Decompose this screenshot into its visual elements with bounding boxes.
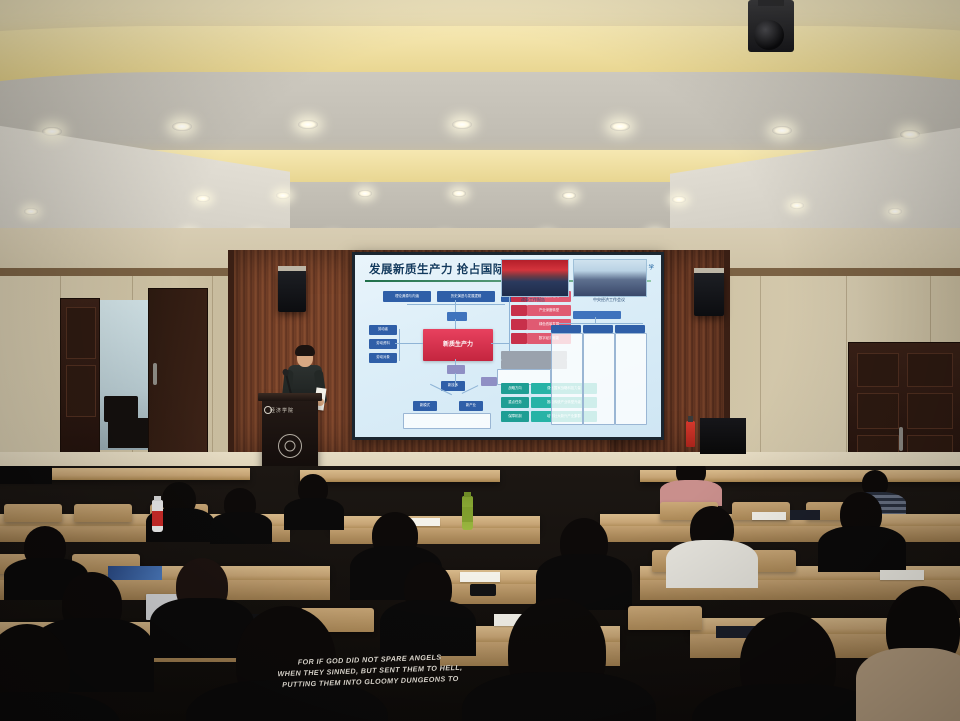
wall-speaker-right bbox=[694, 272, 724, 316]
slide-core-node: 新质生产力 bbox=[423, 329, 493, 361]
slide-node: 新技术 bbox=[441, 381, 465, 391]
stage-cabinet bbox=[700, 418, 746, 454]
podium-top bbox=[258, 393, 322, 401]
connector bbox=[559, 323, 643, 324]
slide-photo-caption: 改革工作报告 bbox=[503, 297, 563, 303]
connector bbox=[399, 329, 400, 361]
downlight bbox=[790, 202, 804, 209]
slide-node: 新模式 bbox=[413, 401, 437, 411]
green-thermos bbox=[462, 496, 473, 530]
downlight bbox=[276, 192, 290, 199]
slide-node-tag bbox=[511, 333, 527, 344]
podium-label: 经济学院 bbox=[270, 407, 294, 414]
downlight bbox=[42, 127, 62, 136]
panel-seam bbox=[760, 276, 761, 476]
red-label-water-bottle bbox=[152, 500, 163, 532]
slide-node: 战略方向 bbox=[501, 383, 529, 394]
speaker-cap bbox=[278, 266, 306, 271]
slide-node-tag bbox=[511, 305, 527, 316]
audience-area bbox=[0, 466, 960, 721]
slide-node-tag bbox=[511, 319, 527, 330]
downlight bbox=[610, 122, 630, 131]
slide-node-small bbox=[573, 311, 621, 319]
slide-node-small bbox=[551, 325, 581, 333]
connector bbox=[407, 304, 505, 305]
phone-on-desk bbox=[470, 584, 496, 596]
papers-on-desk bbox=[880, 570, 924, 580]
door-panel bbox=[66, 307, 96, 359]
slide-node-small bbox=[447, 312, 467, 321]
bottle-label bbox=[152, 511, 163, 526]
slide-node-small bbox=[447, 365, 465, 374]
audience-shoulders bbox=[210, 512, 272, 544]
audience-shoulders bbox=[0, 692, 120, 721]
door-panel bbox=[857, 393, 899, 429]
downlight bbox=[562, 192, 576, 199]
door-panel bbox=[907, 393, 953, 429]
corridor-desk bbox=[108, 418, 148, 448]
bottle-cap bbox=[154, 496, 161, 501]
slide-note bbox=[403, 413, 491, 429]
connector bbox=[491, 343, 509, 344]
projection-screen: 发展新质生产力 抢占国际竞争制高点 武汉纺织大学 理论渊源与内涵 历史演进与发展… bbox=[352, 252, 664, 440]
door-panel bbox=[907, 353, 953, 387]
papers-on-desk bbox=[752, 512, 786, 520]
downlight bbox=[172, 122, 192, 131]
lecture-hall-photo: 发展新质生产力 抢占国际竞争制高点 武汉纺织大学 理论渊源与内涵 历史演进与发展… bbox=[0, 0, 960, 721]
audience-shoulders bbox=[462, 672, 656, 721]
slide-node-small bbox=[481, 377, 497, 386]
tshirt-printed-text: FOR IF GOD DID NOT SPARE ANGELS WHEN THE… bbox=[269, 651, 470, 691]
connector bbox=[509, 295, 510, 357]
desk-face bbox=[330, 528, 540, 544]
camera-lens bbox=[754, 20, 784, 50]
chair-back bbox=[74, 504, 132, 522]
connector bbox=[395, 343, 423, 344]
downlight bbox=[772, 126, 792, 135]
slide-node: 劳动对象 bbox=[369, 353, 397, 363]
ceiling bbox=[0, 0, 960, 250]
downlight bbox=[900, 130, 920, 139]
audience-shoulders bbox=[0, 466, 52, 484]
panel-seam bbox=[846, 276, 847, 476]
slide-node-small bbox=[615, 325, 645, 333]
slide-node-small bbox=[583, 325, 613, 333]
presenter-hair bbox=[295, 345, 315, 356]
camera-mount bbox=[758, 0, 784, 6]
downlight bbox=[298, 120, 318, 129]
audience-shoulders bbox=[380, 600, 476, 656]
podium: 经济学院 bbox=[262, 398, 318, 474]
desk-row bbox=[300, 470, 500, 482]
downlight bbox=[24, 208, 38, 215]
slide-column-box bbox=[615, 333, 647, 425]
door-handle-icon[interactable] bbox=[899, 427, 903, 451]
downlight bbox=[672, 196, 686, 203]
downlight bbox=[358, 190, 372, 197]
slide-node: 产业深度转型 bbox=[527, 305, 571, 316]
wood-wall-edge-left bbox=[228, 250, 234, 455]
desk-face bbox=[600, 526, 960, 542]
fire-extinguisher-icon bbox=[686, 421, 695, 447]
slide-column-box bbox=[583, 333, 615, 425]
slide-node: 重点任务 bbox=[501, 397, 529, 408]
bottle-cap bbox=[464, 492, 471, 497]
wall-speaker-left bbox=[278, 270, 306, 312]
connector bbox=[455, 373, 456, 387]
downlight bbox=[196, 195, 210, 202]
slide-node: 保障机制 bbox=[501, 411, 529, 422]
slide-column-box bbox=[551, 333, 583, 425]
chair-back bbox=[628, 606, 702, 630]
door-handle-icon[interactable] bbox=[153, 363, 157, 385]
slide-node: 理论渊源与内涵 bbox=[383, 291, 431, 302]
slide-node: 历史演进与发展逻辑 bbox=[437, 291, 495, 302]
door-left-open-leaf[interactable] bbox=[148, 288, 208, 462]
slide-node: 新产业 bbox=[459, 401, 483, 411]
audience-shoulders bbox=[284, 498, 344, 530]
door-panel bbox=[857, 353, 899, 387]
audience-shoulders bbox=[818, 526, 906, 572]
audience-shoulders bbox=[666, 540, 758, 588]
audience-shoulders bbox=[856, 648, 960, 721]
downlight bbox=[888, 208, 902, 215]
slide-photo-1 bbox=[501, 259, 569, 297]
notebook bbox=[790, 510, 820, 520]
slide-photo-caption: 中央经济工作会议 bbox=[579, 297, 639, 303]
papers-on-desk bbox=[460, 572, 500, 582]
corridor-opening bbox=[96, 300, 156, 450]
notebook-blue bbox=[108, 566, 162, 580]
ceiling-camera-icon bbox=[748, 0, 794, 52]
door-panel bbox=[66, 365, 96, 417]
door-left-frame[interactable] bbox=[60, 298, 100, 456]
speaker-cap bbox=[694, 268, 724, 273]
slide-node: 劳动资料 bbox=[369, 339, 397, 349]
downlight bbox=[452, 120, 472, 129]
bottle-label bbox=[462, 507, 473, 522]
podium-seal-icon bbox=[278, 434, 302, 458]
slide-node: 劳动者 bbox=[369, 325, 397, 335]
slide-photo-2 bbox=[573, 259, 647, 297]
downlight bbox=[452, 190, 466, 197]
chair-back bbox=[4, 504, 62, 522]
slide-surface: 发展新质生产力 抢占国际竞争制高点 武汉纺织大学 理论渊源与内涵 历史演进与发展… bbox=[355, 255, 661, 437]
connector bbox=[455, 319, 456, 329]
connector bbox=[455, 300, 456, 312]
panel-seam bbox=[212, 276, 213, 466]
